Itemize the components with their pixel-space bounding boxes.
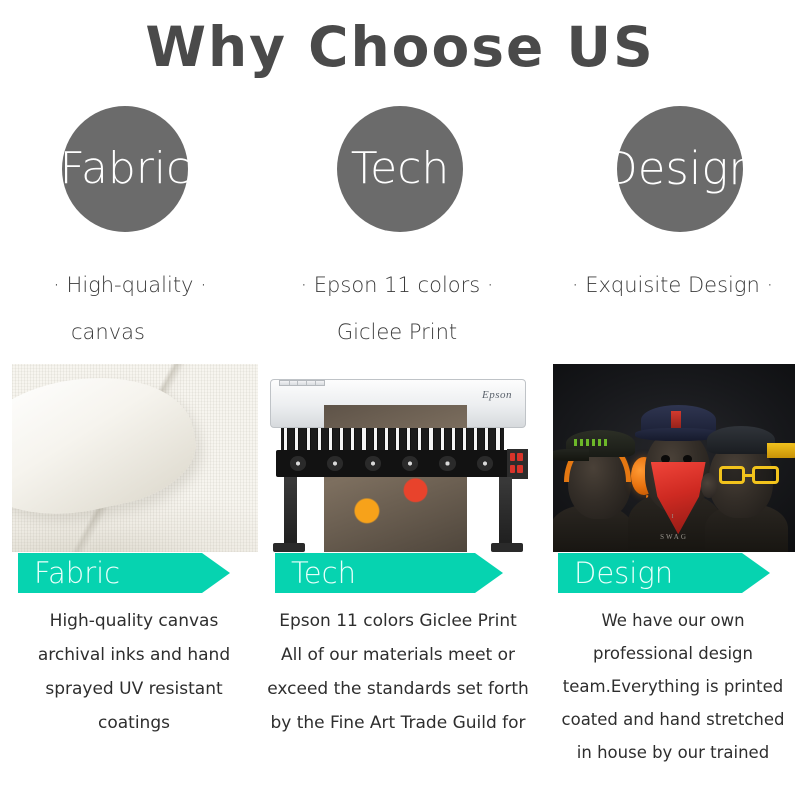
photo-row: Epson: [0, 364, 800, 552]
badge-circle-fabric: Fabric: [62, 106, 188, 232]
description-row: High-quality canvas archival inks and ha…: [0, 604, 800, 784]
description-line: professional design: [548, 637, 798, 670]
description-line: team.Everything is printed: [548, 670, 798, 703]
feature-caption-line: · Epson 11 colors ·: [262, 262, 532, 309]
description-line: in house by our trained: [548, 736, 798, 769]
feature-caption-tech: · Epson 11 colors · Giclee Print: [262, 262, 532, 356]
description-line: High-quality canvas: [8, 604, 260, 638]
feature-caption-line: · High-quality ·: [10, 262, 250, 309]
why-choose-us-infographic: Why Choose US Fabric Tech Design · High-…: [0, 0, 800, 800]
artwork-caption-top: I: [553, 514, 795, 520]
printer-control-panel: [507, 449, 528, 479]
printer-top-tray: [279, 380, 325, 386]
description-line: We have our own: [548, 604, 798, 637]
three-monkeys-icon: I SWAG: [553, 364, 795, 552]
printer-leg-right: [499, 477, 512, 552]
printer-feed-teeth: [281, 428, 504, 452]
badge-label: Tech: [351, 147, 450, 191]
rolled-canvas-icon: [12, 364, 258, 552]
feature-caption-line: · Exquisite Design ·: [545, 262, 800, 309]
description-line: archival inks and hand: [8, 638, 260, 672]
banner-label: Design: [558, 559, 673, 588]
monkeys-artwork-photo: I SWAG: [553, 364, 795, 552]
printer-brand-label: Epson: [482, 389, 512, 401]
description-line: coatings: [8, 706, 260, 740]
banner-fabric: Fabric: [18, 553, 230, 593]
banner-tech: Tech: [275, 553, 503, 593]
description-fabric: High-quality canvas archival inks and ha…: [8, 604, 260, 740]
banner-design: Design: [558, 553, 770, 593]
badge-circle-design: Design: [617, 106, 743, 232]
banner-row: Fabric Tech Design: [0, 553, 800, 597]
banner-label: Tech: [275, 559, 356, 588]
feature-caption-line: canvas: [10, 309, 250, 356]
banner-label: Fabric: [18, 559, 120, 588]
wide-format-printer-icon: Epson: [265, 364, 531, 552]
feature-caption-design: · Exquisite Design ·: [545, 262, 800, 309]
description-tech: Epson 11 colors Giclee Print All of our …: [262, 604, 534, 740]
description-line: coated and hand stretched: [548, 703, 798, 736]
description-line: sprayed UV resistant: [8, 672, 260, 706]
printer-photo: Epson: [265, 364, 531, 552]
badge-label: Fabric: [60, 147, 191, 191]
printer-front-bar: [276, 450, 510, 476]
printer-leg-left: [284, 477, 297, 552]
feature-caption-line: Giclee Print: [262, 309, 532, 356]
description-line: Epson 11 colors Giclee Print: [262, 604, 534, 638]
badge-circle-tech: Tech: [337, 106, 463, 232]
canvas-roll-photo: [12, 364, 258, 552]
description-line: exceed the standards set forth: [262, 672, 534, 706]
description-line: All of our materials meet or: [262, 638, 534, 672]
page-title: Why Choose US: [0, 14, 800, 80]
artwork-caption-bottom: SWAG: [553, 533, 795, 541]
printer-foot-right: [491, 543, 523, 552]
feature-caption-row: · High-quality · canvas · Epson 11 color…: [0, 262, 800, 362]
description-design: We have our own professional design team…: [548, 604, 798, 769]
badge-row: Fabric Tech Design: [0, 106, 800, 232]
badge-label: Design: [603, 147, 757, 191]
description-line: by the Fine Art Trade Guild for: [262, 706, 534, 740]
printer-foot-left: [273, 543, 305, 552]
feature-caption-fabric: · High-quality · canvas: [10, 262, 250, 356]
